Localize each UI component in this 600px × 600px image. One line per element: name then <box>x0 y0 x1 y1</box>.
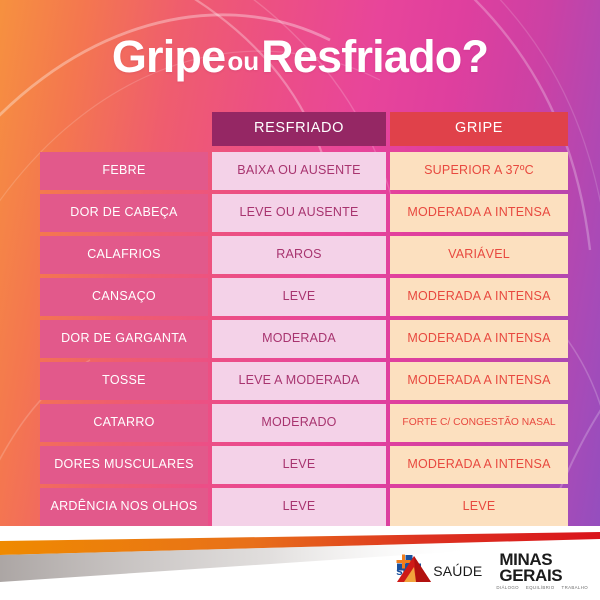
gripe-value: FORTE C/ CONGESTÃO NASAL <box>390 404 568 442</box>
minas-gerais-logo: MINAS GERAIS DIÁLOGO EQUILÍBRIO TRABALHO <box>496 556 588 586</box>
resfriado-value: MODERADA <box>212 320 386 358</box>
table-row: FEBRE BAIXA OU AUSENTE SUPERIOR A 37ºC <box>40 152 568 190</box>
comparison-table: RESFRIADO GRIPE FEBRE BAIXA OU AUSENTE S… <box>40 112 568 530</box>
resfriado-value: MODERADO <box>212 404 386 442</box>
gripe-value: LEVE <box>390 488 568 526</box>
tagline-word: EQUILÍBRIO <box>526 585 555 590</box>
gripe-value: MODERADA A INTENSA <box>390 194 568 232</box>
resfriado-value: LEVE A MODERADA <box>212 362 386 400</box>
gripe-value: VARIÁVEL <box>390 236 568 274</box>
symptom-label: CATARRO <box>40 404 208 442</box>
table-header-row: RESFRIADO GRIPE <box>40 112 568 146</box>
symptom-label: TOSSE <box>40 362 208 400</box>
minas-line-2: GERAIS <box>499 568 562 584</box>
symptom-label: DOR DE GARGANTA <box>40 320 208 358</box>
table-row: CATARRO MODERADO FORTE C/ CONGESTÃO NASA… <box>40 404 568 442</box>
resfriado-value: LEVE <box>212 446 386 484</box>
table-row: CANSAÇO LEVE MODERADA A INTENSA <box>40 278 568 316</box>
minas-triangle-icon <box>396 554 432 584</box>
infographic-canvas: GripeouResfriado? RESFRIADO GRIPE FEBRE … <box>0 0 600 600</box>
resfriado-value: LEVE OU AUSENTE <box>212 194 386 232</box>
tagline-word: DIÁLOGO <box>496 585 518 590</box>
resfriado-value: LEVE <box>212 278 386 316</box>
table-row: TOSSE LEVE A MODERADA MODERADA A INTENSA <box>40 362 568 400</box>
gripe-value: MODERADA A INTENSA <box>390 362 568 400</box>
header-cell-gripe: GRIPE <box>390 112 568 146</box>
symptom-label: DORES MUSCULARES <box>40 446 208 484</box>
tagline-word: TRABALHO <box>562 585 588 590</box>
symptom-label: CANSAÇO <box>40 278 208 316</box>
footer-logos: sus SAÚDE <box>396 554 588 588</box>
table-row: DOR DE GARGANTA MODERADA MODERADA A INTE… <box>40 320 568 358</box>
title-part-resfriado: Resfriado? <box>261 31 488 82</box>
table-row: DORES MUSCULARES LEVE MODERADA A INTENSA <box>40 446 568 484</box>
title-part-gripe: Gripe <box>112 31 226 82</box>
gripe-value: MODERADA A INTENSA <box>390 278 568 316</box>
symptom-label: FEBRE <box>40 152 208 190</box>
table-row: ARDÊNCIA NOS OLHOS LEVE LEVE <box>40 488 568 526</box>
minas-tagline: DIÁLOGO EQUILÍBRIO TRABALHO <box>496 585 588 590</box>
symptom-label: ARDÊNCIA NOS OLHOS <box>40 488 208 526</box>
table-row: DOR DE CABEÇA LEVE OU AUSENTE MODERADA A… <box>40 194 568 232</box>
saude-logo: SAÚDE <box>432 556 482 586</box>
page-title: GripeouResfriado? <box>0 34 600 79</box>
saude-label: SAÚDE <box>433 563 482 579</box>
table-row: CALAFRIOS RAROS VARIÁVEL <box>40 236 568 274</box>
symptom-label: CALAFRIOS <box>40 236 208 274</box>
gripe-value: SUPERIOR A 37ºC <box>390 152 568 190</box>
resfriado-value: BAIXA OU AUSENTE <box>212 152 386 190</box>
header-cell-empty <box>40 112 208 146</box>
resfriado-value: LEVE <box>212 488 386 526</box>
resfriado-value: RAROS <box>212 236 386 274</box>
gripe-value: MODERADA A INTENSA <box>390 446 568 484</box>
footer-bar: sus SAÚDE <box>0 526 600 600</box>
title-conjunction: ou <box>225 46 261 76</box>
gripe-value: MODERADA A INTENSA <box>390 320 568 358</box>
symptom-label: DOR DE CABEÇA <box>40 194 208 232</box>
header-cell-resfriado: RESFRIADO <box>212 112 386 146</box>
